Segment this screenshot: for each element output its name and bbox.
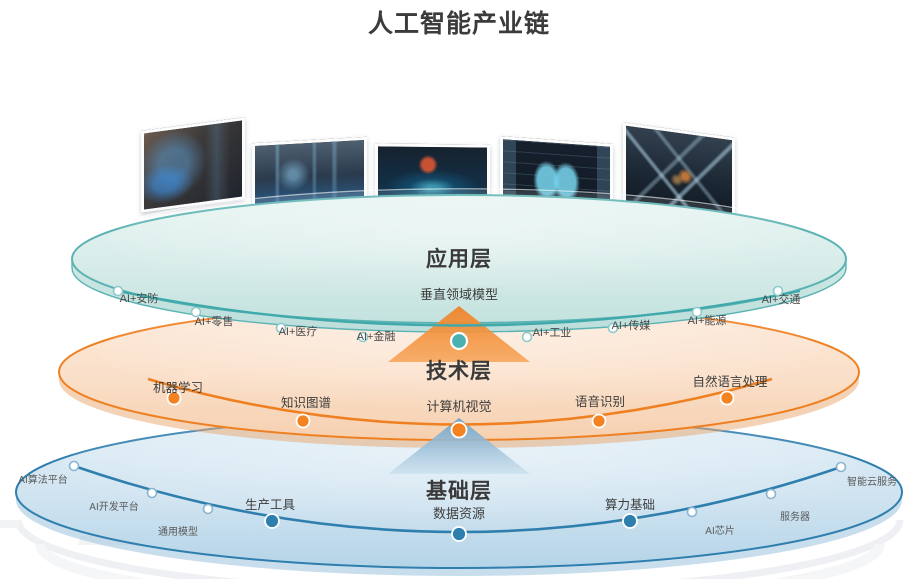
node-production-tools[interactable] [265, 514, 279, 528]
foundation-layer-title: 基础层 [349, 475, 569, 505]
label-ai-industry[interactable]: AI+工业 [533, 324, 572, 340]
label-production-tools[interactable]: 生产工具 [245, 494, 295, 513]
foundation-layer-center-label: 数据资源 [349, 503, 569, 522]
node-knowledge-graph[interactable] [297, 415, 310, 428]
label-ai-transport[interactable]: AI+交通 [762, 291, 801, 307]
label-knowledge-graph[interactable]: 知识图谱 [281, 392, 331, 411]
node-computing-power[interactable] [623, 514, 637, 528]
label-nlp[interactable]: 自然语言处理 [692, 371, 767, 390]
node-ai-chip[interactable] [688, 508, 697, 517]
label-machine-learning[interactable]: 机器学习 [153, 377, 203, 396]
node-ai-algorithm-platform[interactable] [70, 462, 79, 471]
label-ai-media[interactable]: AI+传媒 [612, 317, 651, 333]
node-speech-recognition[interactable] [593, 415, 606, 428]
application-layer-title: 应用层 [349, 243, 569, 273]
node-general-model[interactable] [204, 505, 213, 514]
label-general-model[interactable]: 通用模型 [158, 523, 198, 538]
node-data-resources[interactable] [452, 527, 466, 541]
node-nlp[interactable] [721, 392, 734, 405]
label-ai-medical[interactable]: AI+医疗 [279, 323, 318, 339]
node-ai-industry[interactable] [523, 333, 532, 342]
label-ai-dev-platform[interactable]: AI开发平台 [89, 498, 138, 513]
technology-layer-title: 技术层 [349, 355, 569, 385]
technology-layer-center-label: 计算机视觉 [349, 396, 569, 415]
label-ai-finance[interactable]: AI+金融 [357, 328, 396, 344]
infographic-canvas: 人工智能产业链 [0, 0, 918, 579]
label-ai-algorithm-platform[interactable]: AI算法平台 [18, 471, 67, 486]
label-computing-power[interactable]: 算力基础 [605, 494, 655, 513]
node-server[interactable] [767, 490, 776, 499]
label-intelligent-cloud[interactable]: 智能云服务 [847, 473, 897, 488]
label-server[interactable]: 服务器 [780, 508, 810, 523]
node-ai-dev-platform[interactable] [148, 489, 157, 498]
label-ai-security[interactable]: AI+安防 [120, 290, 159, 306]
node-intelligent-cloud[interactable] [837, 463, 846, 472]
node-computer-vision[interactable] [452, 423, 467, 438]
label-ai-retail[interactable]: AI+零售 [195, 313, 234, 329]
label-speech-recognition[interactable]: 语音识别 [575, 391, 625, 410]
label-ai-energy[interactable]: AI+能源 [688, 312, 727, 328]
node-vertical-domain-model[interactable] [451, 333, 467, 349]
application-layer-center-label: 垂直领域模型 [349, 284, 569, 303]
label-ai-chip[interactable]: AI芯片 [705, 522, 734, 537]
